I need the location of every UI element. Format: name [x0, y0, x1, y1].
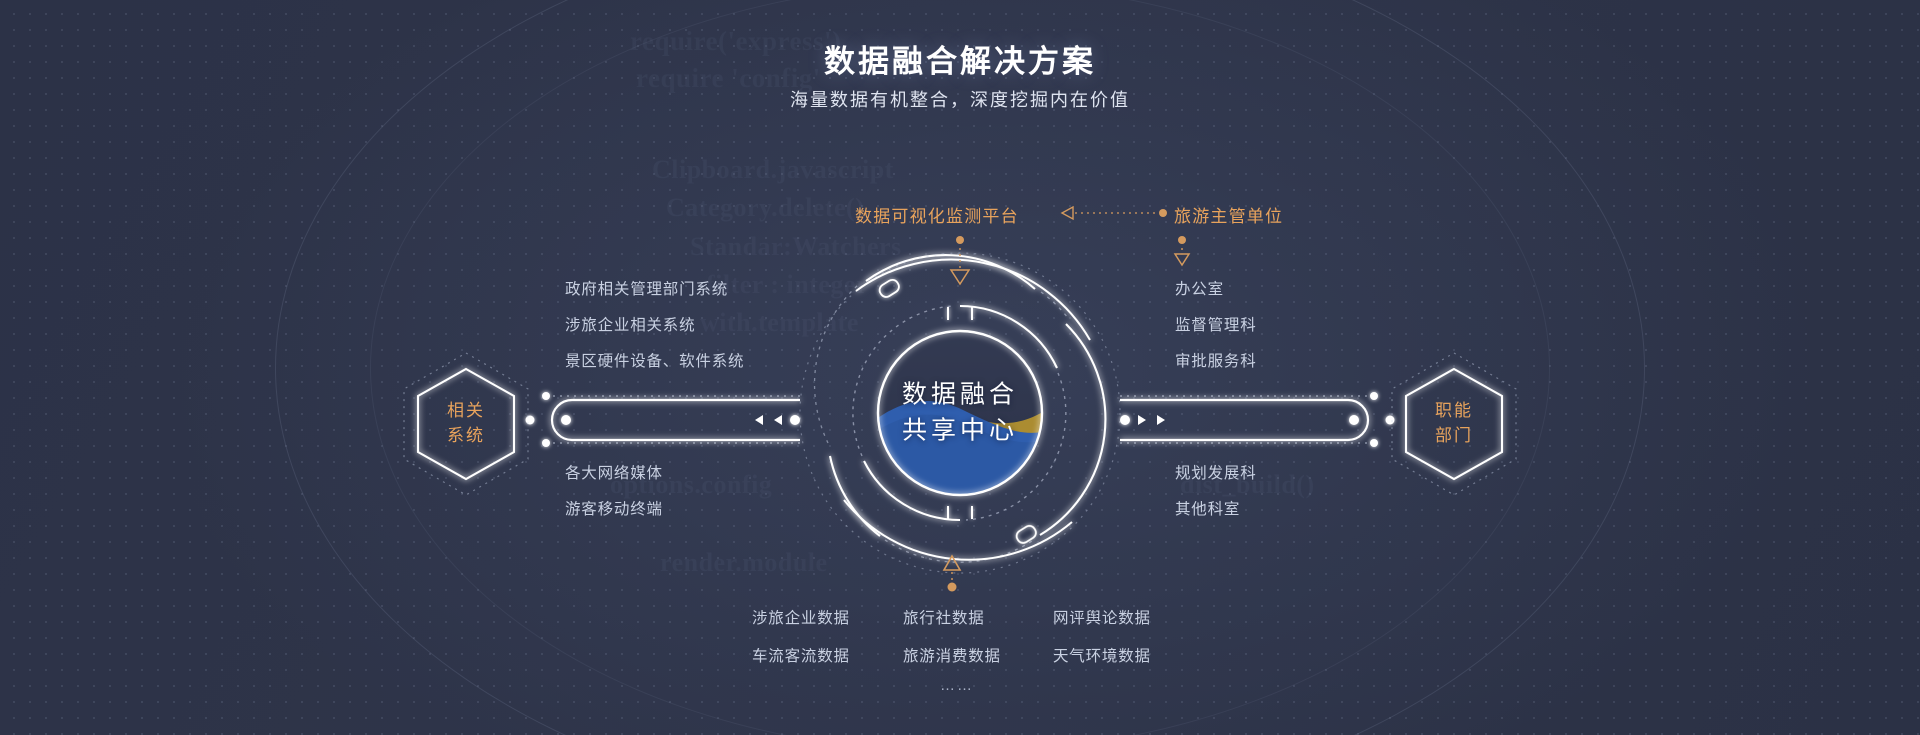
label-right-bottom-0[interactable]: 规划发展科: [1175, 461, 1257, 483]
bottom-flow-connector: [944, 556, 960, 592]
label-bottom-c2-r2[interactable]: 旅游消费数据: [903, 644, 1001, 666]
label-bottom-c2-r1[interactable]: 旅行社数据: [903, 606, 985, 628]
hexagon-right-line1: 职能: [1435, 399, 1473, 424]
label-bottom-c1-r2[interactable]: 车流客流数据: [752, 644, 850, 666]
center-line-2: 共享中心: [902, 413, 1018, 449]
label-right-top-1[interactable]: 监督管理科: [1175, 313, 1257, 335]
connector-left: [526, 392, 801, 447]
page-title: 数据融合解决方案: [0, 36, 1920, 81]
label-bottom-c1-r1[interactable]: 涉旅企业数据: [752, 606, 850, 628]
label-left-top-1[interactable]: 涉旅企业相关系统: [565, 313, 695, 335]
background-code-3: Category.delete(): [666, 193, 864, 223]
background-code-6: with.template: [700, 308, 859, 338]
label-visualization-platform[interactable]: 数据可视化监测平台: [855, 202, 1019, 227]
label-bottom-c3-r2[interactable]: 天气环境数据: [1053, 644, 1151, 666]
hexagon-left-line2: 系统: [447, 424, 485, 449]
hexagon-right-label: 职能 部门: [1389, 354, 1519, 494]
label-bottom-c3-r1[interactable]: 网评舆论数据: [1053, 606, 1151, 628]
connector-right: [1120, 392, 1395, 447]
label-left-top-0[interactable]: 政府相关管理部门系统: [565, 277, 728, 299]
background-code-5: filter : integer: [706, 270, 868, 300]
arrow-dot-right: [1178, 236, 1186, 244]
label-left-top-2[interactable]: 景区硬件设备、软件系统: [565, 349, 744, 371]
label-tourism-authority[interactable]: 旅游主管单位: [1174, 202, 1283, 227]
hexagon-right-line2: 部门: [1435, 424, 1473, 449]
label-left-bottom-0[interactable]: 各大网络媒体: [565, 461, 663, 483]
label-left-bottom-1[interactable]: 游客移动终端: [565, 497, 663, 519]
hexagon-left[interactable]: 相关 系统: [401, 354, 531, 494]
center-core-label: 数据融合 共享中心: [902, 378, 1018, 449]
label-right-top-0[interactable]: 办公室: [1175, 277, 1224, 299]
background-code-2: Clipboard.javascript: [652, 155, 894, 185]
infographic-stage: require('express') require 'config' Clip…: [0, 0, 1920, 735]
label-right-top-2[interactable]: 审批服务科: [1175, 349, 1257, 371]
background-code-8: render.module: [660, 548, 828, 578]
hexagon-right[interactable]: 职能 部门: [1389, 354, 1519, 494]
label-right-bottom-1[interactable]: 其他科室: [1175, 497, 1240, 519]
hexagon-left-label: 相关 系统: [401, 354, 531, 494]
hexagon-left-line1: 相关: [447, 399, 485, 424]
background-code-4: Standar:Watchers: [690, 232, 902, 262]
center-line-1: 数据融合: [902, 378, 1018, 414]
label-bottom-more: ……: [940, 677, 974, 694]
page-subtitle: 海量数据有机整合，深度挖掘内在价值: [0, 86, 1920, 112]
arrow-dot-left: [956, 236, 964, 244]
